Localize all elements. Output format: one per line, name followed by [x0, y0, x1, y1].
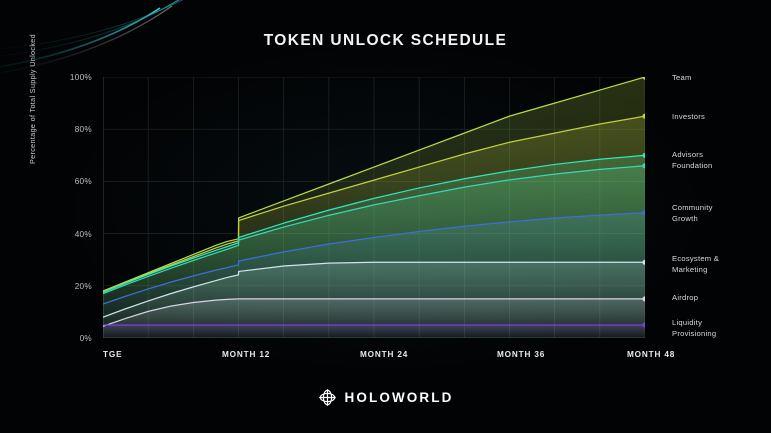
y-tick-40: 40%: [58, 230, 92, 239]
x-tick-month-48: MONTH 48: [627, 350, 675, 359]
token-unlock-schedule-screen: TOKEN UNLOCK SCHEDULE Percentage of Tota…: [0, 0, 771, 433]
legend-item-community-growth[interactable]: Community Growth: [672, 203, 713, 224]
holoworld-globe-icon: [318, 388, 337, 407]
legend-label-line1: Team: [672, 73, 692, 84]
y-tick-80: 80%: [58, 125, 92, 134]
x-tick-month-12: MONTH 12: [222, 350, 270, 359]
legend-item-advisors[interactable]: Advisors: [672, 150, 703, 161]
x-tick-month-36: MONTH 36: [497, 350, 545, 359]
legend-label-line1: Investors: [672, 112, 705, 123]
page-title: TOKEN UNLOCK SCHEDULE: [0, 32, 771, 50]
legend-item-team[interactable]: Team: [672, 73, 692, 84]
legend-label-line1: Advisors: [672, 150, 703, 161]
brand-name: HOLOWORLD: [345, 390, 454, 405]
legend-item-investors[interactable]: Investors: [672, 112, 705, 123]
legend-label-line1: Liquidity: [672, 318, 716, 329]
legend-label-line2: Growth: [672, 214, 713, 225]
legend-label-line1: Foundation: [672, 161, 713, 172]
x-tick-tge: TGE: [103, 350, 122, 359]
legend-label-line1: Airdrop: [672, 293, 698, 304]
legend-item-liquidity-provisioning[interactable]: Liquidity Provisioning: [672, 318, 716, 339]
y-tick-20: 20%: [58, 282, 92, 291]
legend-label-line1: Ecosystem &: [672, 254, 719, 265]
footer: HOLOWORLD: [0, 388, 771, 407]
legend-item-ecosystem-marketing[interactable]: Ecosystem & Marketing: [672, 254, 719, 275]
legend-label-line2: Marketing: [672, 265, 719, 276]
y-axis-title: Percentage of Total Supply Unlocked: [28, 4, 37, 164]
line-chart-plot: [103, 77, 645, 338]
legend-label-line1: Community: [672, 203, 713, 214]
legend-item-foundation[interactable]: Foundation: [672, 161, 713, 172]
y-tick-60: 60%: [58, 177, 92, 186]
legend-label-line2: Provisioning: [672, 329, 716, 340]
x-tick-month-24: MONTH 24: [360, 350, 408, 359]
y-tick-0: 0%: [58, 334, 92, 343]
y-tick-100: 100%: [58, 73, 92, 82]
legend-item-airdrop[interactable]: Airdrop: [672, 293, 698, 304]
